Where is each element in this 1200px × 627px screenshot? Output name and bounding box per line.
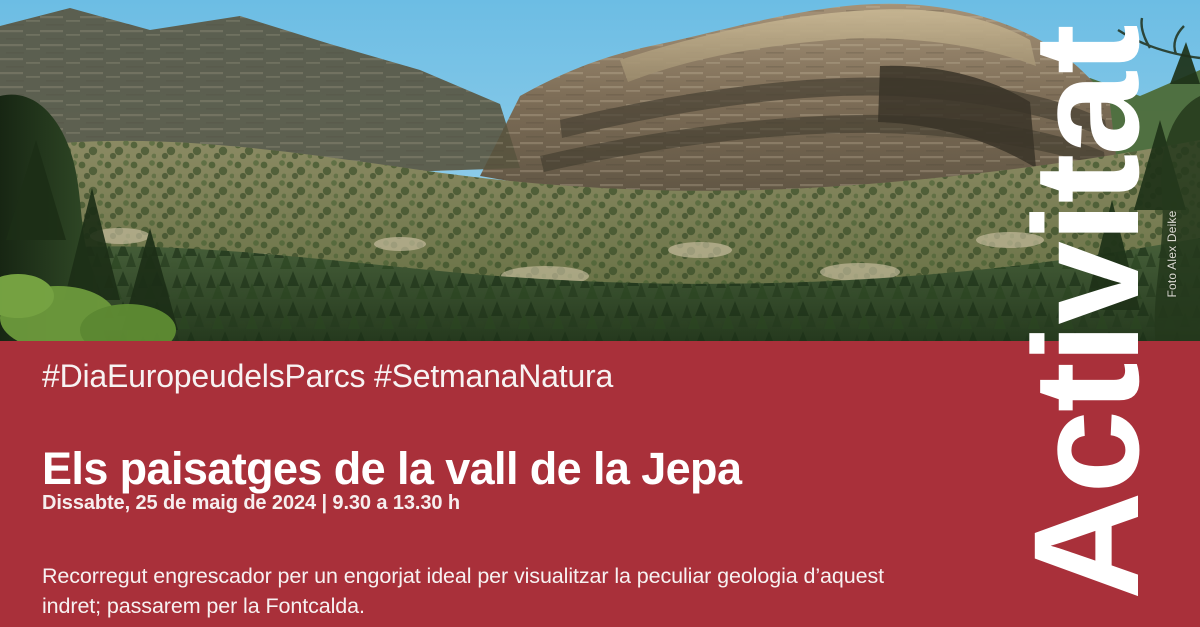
hashtags: #DiaEuropeudelsParcs #SetmanaNatura (42, 358, 613, 395)
banner-content: #DiaEuropeudelsParcs #SetmanaNatura Els … (42, 341, 972, 627)
event-datetime: Dissabte, 25 de maig de 2024 | 9.30 a 13… (42, 492, 460, 515)
activity-poster: #DiaEuropeudelsParcs #SetmanaNatura Els … (0, 0, 1200, 627)
landscape-illustration (0, 0, 1200, 345)
info-banner: #DiaEuropeudelsParcs #SetmanaNatura Els … (0, 341, 1200, 627)
event-description: Recorregut engrescador per un engorjat i… (42, 561, 942, 621)
photo-credit: Foto Alex Deike (1165, 159, 1179, 349)
landscape-photo (0, 0, 1200, 345)
page-title: Els paisatges de la vall de la Jepa (42, 443, 741, 495)
